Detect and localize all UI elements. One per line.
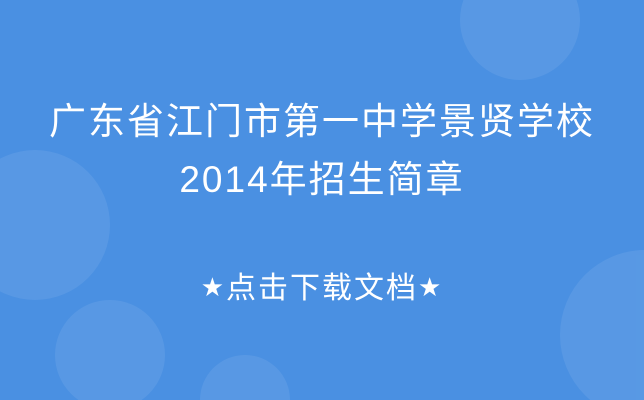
star-icon-left: ★ <box>201 272 226 302</box>
star-icon-right: ★ <box>418 272 443 302</box>
banner-content: 广东省江门市第一中学景贤学校2014年招生简章 ★点击下载文档★ <box>0 0 644 400</box>
promo-banner: 广东省江门市第一中学景贤学校2014年招生简章 ★点击下载文档★ <box>0 0 644 400</box>
download-label: 点击下载文档 <box>226 272 418 305</box>
banner-title: 广东省江门市第一中学景贤学校2014年招生简章 <box>42 93 602 209</box>
download-document-link[interactable]: ★点击下载文档★ <box>201 263 444 307</box>
